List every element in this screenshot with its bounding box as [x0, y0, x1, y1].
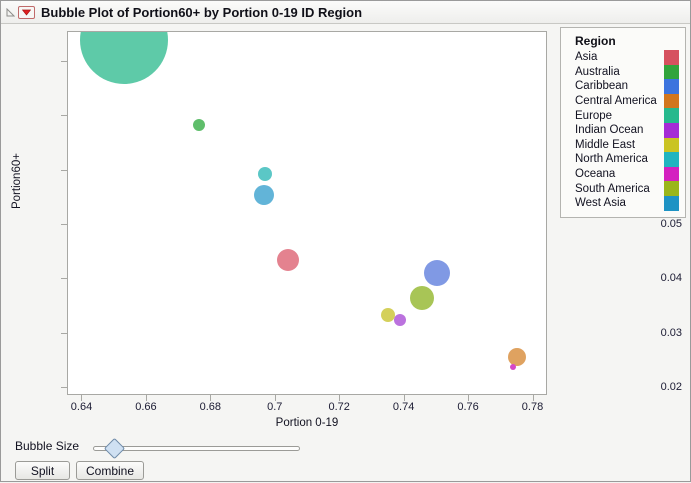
bubble-point[interactable] — [277, 249, 299, 271]
plot-frame[interactable] — [67, 31, 547, 395]
legend-item-label: West Asia — [567, 197, 664, 209]
bubble-point[interactable] — [80, 31, 168, 84]
legend-item-label: Australia — [567, 66, 664, 78]
bubble-point[interactable] — [381, 308, 395, 322]
bubble-point[interactable] — [410, 286, 434, 310]
bubble-size-label: Bubble Size — [15, 439, 79, 453]
legend-item[interactable]: Middle East — [567, 138, 679, 153]
bubble-point[interactable] — [258, 167, 272, 181]
x-axis-tick-label: 0.68 — [200, 401, 221, 413]
page-title: Bubble Plot of Portion60+ by Portion 0-1… — [41, 5, 362, 20]
legend-color-swatch[interactable] — [664, 65, 679, 80]
red-dropdown-icon[interactable] — [18, 6, 35, 19]
legend-item[interactable]: Asia — [567, 50, 679, 65]
y-axis-tick-label: 0.02 — [661, 381, 682, 393]
legend-item[interactable]: North America — [567, 152, 679, 167]
x-axis-tick-label: 0.64 — [71, 401, 92, 413]
y-axis-tick-mark — [61, 387, 67, 388]
window-titlebar: Bubble Plot of Portion60+ by Portion 0-1… — [1, 1, 690, 24]
x-axis-tick-mark — [275, 395, 276, 401]
bubble-point[interactable] — [510, 364, 516, 370]
legend-item-label: Europe — [567, 110, 664, 122]
legend-item[interactable]: Australia — [567, 65, 679, 80]
y-axis-tick-mark — [61, 278, 67, 279]
legend-color-swatch[interactable] — [664, 79, 679, 94]
x-axis-tick-mark — [339, 395, 340, 401]
y-axis-tick-mark — [61, 115, 67, 116]
x-axis-tick-mark — [210, 395, 211, 401]
legend-color-swatch[interactable] — [664, 181, 679, 196]
x-axis-tick-mark — [146, 395, 147, 401]
legend-color-swatch[interactable] — [664, 108, 679, 123]
legend-color-swatch[interactable] — [664, 50, 679, 65]
triangle-collapse-icon[interactable] — [4, 1, 17, 23]
y-axis-tick-mark — [61, 333, 67, 334]
y-axis-tick-mark — [61, 170, 67, 171]
legend-item-label: Asia — [567, 51, 664, 63]
bubble-point[interactable] — [394, 314, 406, 326]
legend-item-label: Caribbean — [567, 80, 664, 92]
legend-item-label: Indian Ocean — [567, 124, 664, 136]
legend-item[interactable]: South America — [567, 181, 679, 196]
x-axis-tick-label: 0.76 — [457, 401, 478, 413]
x-axis-tick-mark — [81, 395, 82, 401]
legend-item[interactable]: Central America — [567, 94, 679, 109]
legend-item-label: Middle East — [567, 139, 664, 151]
y-axis-tick-label: 0.04 — [661, 272, 682, 284]
x-axis-tick-label: 0.78 — [522, 401, 543, 413]
legend-item-label: South America — [567, 183, 664, 195]
legend-color-swatch[interactable] — [664, 94, 679, 109]
x-axis-tick-label: 0.66 — [135, 401, 156, 413]
split-button[interactable]: Split — [15, 461, 70, 480]
bubble-point[interactable] — [254, 185, 274, 205]
x-axis-tick-label: 0.72 — [328, 401, 349, 413]
y-axis-tick-mark — [61, 61, 67, 62]
x-axis-tick-mark — [404, 395, 405, 401]
legend-item[interactable]: Oceana — [567, 167, 679, 182]
legend-color-swatch[interactable] — [664, 152, 679, 167]
legend-title: Region — [575, 34, 679, 48]
legend-panel: Region AsiaAustraliaCaribbeanCentral Ame… — [560, 27, 686, 218]
x-axis-tick-mark — [468, 395, 469, 401]
combine-button[interactable]: Combine — [76, 461, 144, 480]
x-axis-tick-label: 0.74 — [393, 401, 414, 413]
legend-item[interactable]: Indian Ocean — [567, 123, 679, 138]
legend-item[interactable]: Caribbean — [567, 79, 679, 94]
x-axis-tick-mark — [533, 395, 534, 401]
legend-item-label: North America — [567, 153, 664, 165]
legend-item-label: Central America — [567, 95, 664, 107]
bubble-plot-window: Bubble Plot of Portion60+ by Portion 0-1… — [0, 0, 691, 482]
y-axis: Portion60+ — [1, 23, 67, 403]
legend-item[interactable]: West Asia — [567, 196, 679, 211]
bottom-controls: Bubble Size Split Combine — [1, 437, 690, 483]
bubble-point[interactable] — [424, 260, 450, 286]
y-axis-tick-label: 0.03 — [661, 327, 682, 339]
legend-item-label: Oceana — [567, 168, 664, 180]
bubble-size-slider-thumb[interactable] — [104, 438, 125, 459]
legend-item[interactable]: Europe — [567, 108, 679, 123]
bubble-point[interactable] — [193, 119, 205, 131]
legend-color-swatch[interactable] — [664, 138, 679, 153]
y-axis-title: Portion60+ — [11, 131, 23, 231]
x-axis-tick-label: 0.7 — [267, 401, 282, 413]
legend-color-swatch[interactable] — [664, 196, 679, 211]
legend-color-swatch[interactable] — [664, 167, 679, 182]
y-axis-tick-label: 0.05 — [661, 218, 682, 230]
legend-color-swatch[interactable] — [664, 123, 679, 138]
x-axis-title: Portion 0-19 — [67, 417, 547, 429]
y-axis-tick-mark — [61, 224, 67, 225]
